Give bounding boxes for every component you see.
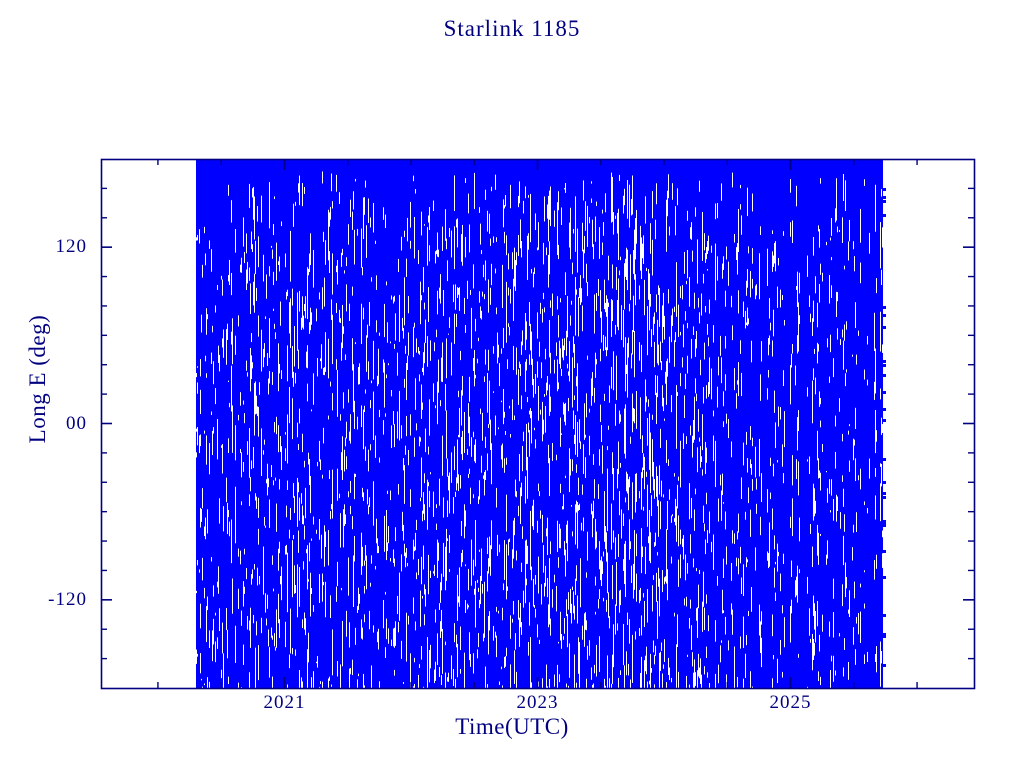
data-series-longitude — [196, 159, 886, 688]
xtick-label: 2021 — [239, 692, 329, 714]
ytick-label: 120 — [17, 236, 87, 258]
ytick-label: -120 — [17, 589, 87, 611]
longitude-vs-time-plot — [0, 0, 1024, 768]
y-axis-title: Long E (deg) — [25, 279, 51, 479]
x-axis-title: Time(UTC) — [0, 714, 1024, 740]
xtick-label: 2025 — [746, 692, 836, 714]
xtick-label: 2023 — [493, 692, 583, 714]
plot-figure: Starlink 1185 120 00 -120 2021 2023 2025… — [0, 0, 1024, 768]
